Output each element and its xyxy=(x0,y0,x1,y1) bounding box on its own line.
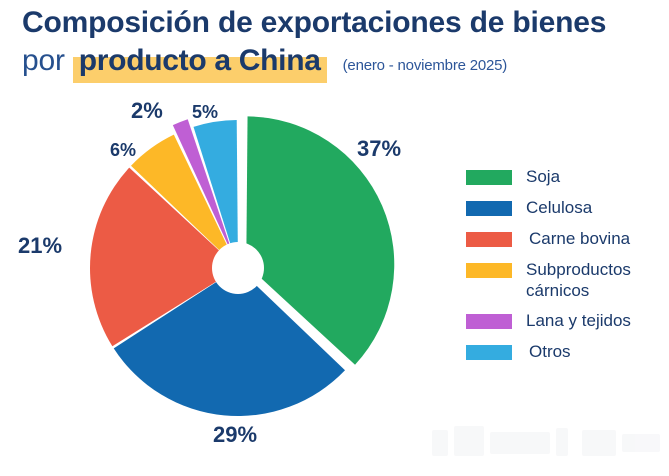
pie-value-label: 2% xyxy=(131,98,163,124)
legend-item-label: Soja xyxy=(526,166,560,187)
title-prefix: por xyxy=(22,42,65,80)
subtitle: (enero - noviembre 2025) xyxy=(343,47,507,85)
pie-value-label: 6% xyxy=(110,140,136,161)
page-title: Composición de exportaciones de bienes p… xyxy=(22,4,642,85)
title-line-2: por producto a China (enero - noviembre … xyxy=(22,42,642,85)
title-emphasis: producto a China xyxy=(79,44,321,77)
pie-value-label: 21% xyxy=(18,233,62,259)
legend-swatch-icon xyxy=(466,345,512,360)
legend-item-label: Celulosa xyxy=(526,197,592,218)
pie-value-label: 37% xyxy=(357,136,401,162)
pie-value-label: 29% xyxy=(213,422,257,448)
legend-swatch-icon xyxy=(466,314,512,329)
legend-item[interactable]: Carne bovina xyxy=(466,228,666,250)
legend-item[interactable]: Celulosa xyxy=(466,197,666,219)
chart-page: Composición de exportaciones de bienes p… xyxy=(0,0,669,476)
legend-item[interactable]: Subproductos cárnicos xyxy=(466,259,666,301)
pie-value-label: 5% xyxy=(192,102,218,123)
title-highlight: producto a China xyxy=(73,42,327,80)
legend-swatch-icon xyxy=(466,170,512,185)
title-line-1: Composición de exportaciones de bienes xyxy=(22,4,642,42)
legend-item[interactable]: Soja xyxy=(466,166,666,188)
legend-swatch-icon xyxy=(466,263,512,278)
donut-hole xyxy=(212,242,264,294)
legend-item[interactable]: Otros xyxy=(466,341,666,363)
legend-item-label: Lana y tejidos xyxy=(526,310,631,331)
legend-swatch-icon xyxy=(466,232,512,247)
watermark xyxy=(432,424,660,462)
donut-chart: 37%29%21%6%2%5% xyxy=(0,88,440,476)
legend-item-label: Subproductos cárnicos xyxy=(526,259,631,301)
legend-item-label: Otros xyxy=(529,341,571,362)
legend-item-label: Carne bovina xyxy=(529,228,630,249)
legend-item[interactable]: Lana y tejidos xyxy=(466,310,666,332)
legend-swatch-icon xyxy=(466,201,512,216)
chart-legend: SojaCelulosaCarne bovinaSubproductos cár… xyxy=(466,166,666,372)
